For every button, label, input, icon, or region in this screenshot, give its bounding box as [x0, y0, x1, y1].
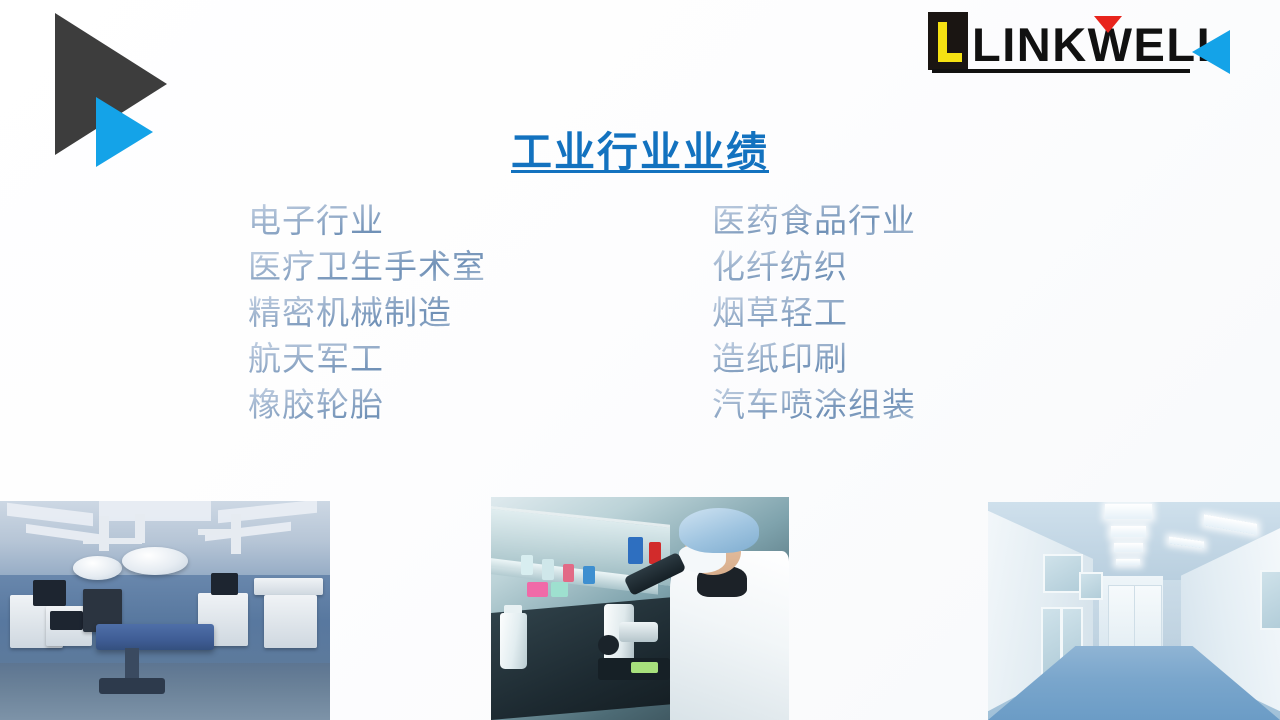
- slide-canvas: LINKWELL 工业行业业绩 电子行业 医疗卫生手术室 精密机械制造 航天军工…: [0, 0, 1280, 720]
- industry-column-left: 电子行业 医疗卫生手术室 精密机械制造 航天军工 橡胶轮胎: [248, 198, 486, 428]
- list-item: 航天军工: [248, 336, 486, 382]
- logo-cyan-triangle-icon: [1192, 30, 1230, 74]
- list-item: 汽车喷涂组装: [712, 382, 916, 428]
- logo-underline-rule: [932, 69, 1190, 73]
- logo-l-glyph-icon: [938, 22, 962, 62]
- list-item: 精密机械制造: [248, 290, 486, 336]
- page-title: 工业行业业绩: [0, 118, 1280, 178]
- cleanroom-corridor-photo: [988, 502, 1280, 720]
- laboratory-microscope-photo: [491, 497, 789, 720]
- list-item: 烟草轻工: [712, 290, 916, 336]
- industry-column-right: 医药食品行业 化纤纺织 烟草轻工 造纸印刷 汽车喷涂组装: [712, 198, 916, 428]
- list-item: 橡胶轮胎: [248, 382, 486, 428]
- list-item: 化纤纺织: [712, 244, 916, 290]
- list-item: 医药食品行业: [712, 198, 916, 244]
- logo-red-triangle-icon: [1094, 16, 1122, 33]
- operating-room-photo: [0, 501, 330, 720]
- logo-mark-square: [928, 12, 968, 70]
- list-item: 电子行业: [248, 198, 486, 244]
- list-item: 医疗卫生手术室: [248, 244, 486, 290]
- industry-columns: 电子行业 医疗卫生手术室 精密机械制造 航天军工 橡胶轮胎 医药食品行业 化纤纺…: [0, 198, 1280, 438]
- linkwell-logo: LINKWELL: [928, 12, 1248, 88]
- list-item: 造纸印刷: [712, 336, 916, 382]
